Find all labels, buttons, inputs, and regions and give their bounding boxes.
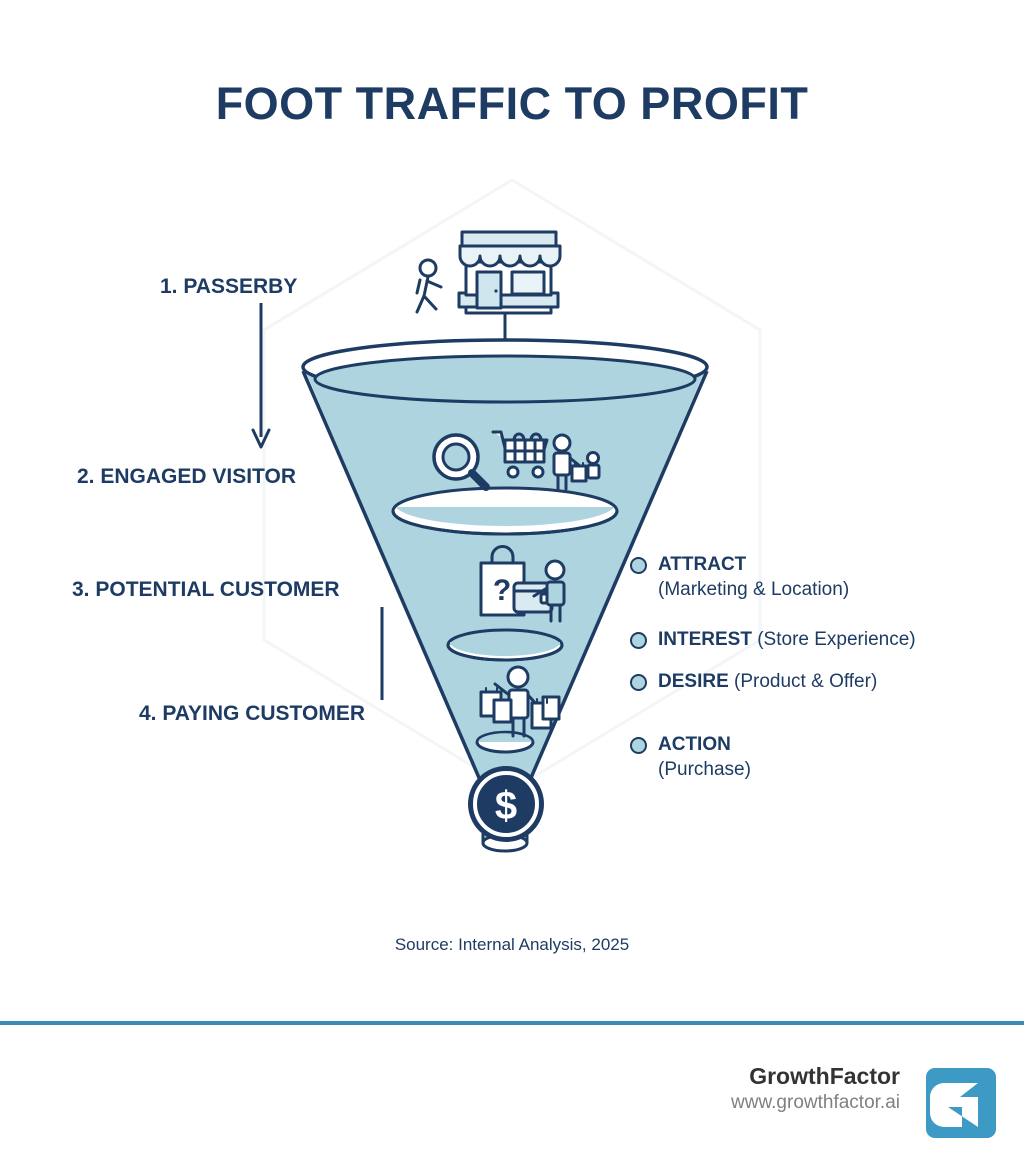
source-note: Source: Internal Analysis, 2025: [0, 935, 1024, 955]
stage-label-paying-customer: 4. PAYING CUSTOMER: [139, 702, 365, 726]
legend-term: ACTION: [658, 734, 731, 755]
infographic-artwork: ? $: [0, 0, 1024, 1154]
dollar-symbol: $: [495, 784, 517, 828]
svg-text:?: ?: [493, 574, 511, 607]
legend-item-attract: ATTRACT (Marketing & Location): [630, 552, 849, 602]
legend-item-interest: INTEREST (Store Experience): [630, 627, 916, 652]
dollar-coin-icon: $: [468, 766, 544, 842]
walking-person-icon: [417, 260, 441, 312]
page-title: FOOT TRAFFIC TO PROFIT: [0, 78, 1024, 130]
storefront-icon: [459, 232, 560, 313]
legend-term: ATTRACT: [658, 554, 746, 575]
growthfactor-g-logo: [926, 1068, 996, 1138]
stage-label-potential-customer: 3. POTENTIAL CUSTOMER: [72, 578, 340, 602]
stage-1-connector-arrow: [253, 303, 269, 447]
brand-name: GrowthFactor: [731, 1062, 900, 1090]
legend-item-desire-text: DESIRE (Product & Offer): [658, 669, 877, 694]
legend-term: DESIRE: [658, 671, 729, 692]
stage-label-passerby: 1. PASSERBY: [160, 275, 297, 299]
legend-bullet-icon: [630, 737, 647, 754]
legend-item-attract-text: ATTRACT (Marketing & Location): [658, 552, 849, 602]
legend-detail: (Product & Offer): [734, 671, 877, 692]
legend-detail: (Purchase): [658, 757, 751, 782]
legend-bullet-icon: [630, 632, 647, 649]
legend-detail: (Store Experience): [757, 629, 915, 650]
legend-bullet-icon: [630, 674, 647, 691]
legend-bullet-icon: [630, 557, 647, 574]
legend-item-action: ACTION (Purchase): [630, 732, 751, 782]
brand-url[interactable]: www.growthfactor.ai: [731, 1090, 900, 1116]
legend-item-desire: DESIRE (Product & Offer): [630, 669, 877, 694]
legend-detail: (Marketing & Location): [658, 577, 849, 602]
footer-brand: GrowthFactor www.growthfactor.ai: [731, 1062, 900, 1116]
legend-term: INTEREST: [658, 629, 752, 650]
legend-item-interest-text: INTEREST (Store Experience): [658, 627, 916, 652]
legend-item-action-text: ACTION (Purchase): [658, 732, 751, 782]
stage-label-engaged-visitor: 2. ENGAGED VISITOR: [77, 465, 296, 489]
footer-divider: [0, 1021, 1024, 1025]
